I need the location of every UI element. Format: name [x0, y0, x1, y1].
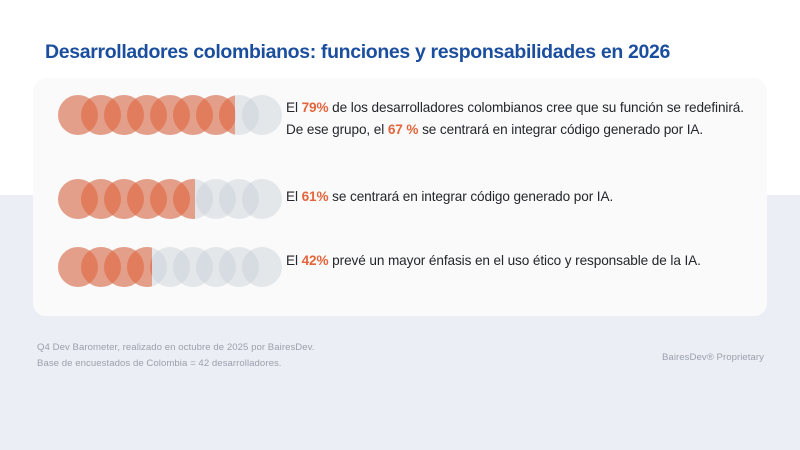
- text-segment: se centrará en integrar código generado …: [329, 189, 614, 204]
- gauge-fill-inner: [58, 92, 235, 138]
- proprietary-notice: BairesDev® Proprietary: [662, 352, 764, 363]
- stat-text: El 79% de los desarrolladores colombiano…: [286, 97, 756, 141]
- source-footnote: Q4 Dev Barometer, realizado en octubre d…: [37, 340, 315, 371]
- source-line-2: Base de encuestados de Colombia = 42 des…: [37, 356, 315, 372]
- slide-root: Desarrolladores colombianos: funciones y…: [0, 0, 800, 450]
- stat-text: El 42% prevé un mayor énfasis en el uso …: [286, 250, 756, 272]
- percent-highlight: 42%: [302, 253, 329, 268]
- text-segment: El: [286, 253, 302, 268]
- source-line-1: Q4 Dev Barometer, realizado en octubre d…: [37, 340, 315, 356]
- gauge-fill: [58, 92, 235, 138]
- text-segment: prevé un mayor énfasis en el uso ético y…: [329, 253, 701, 268]
- percent-highlight: 79%: [302, 100, 329, 115]
- page-title: Desarrolladores colombianos: funciones y…: [45, 41, 775, 64]
- gauge-dot: [242, 247, 282, 287]
- text-segment: se centrará en integrar código generado …: [418, 122, 703, 137]
- stat-rows: El 79% de los desarrolladores colombiano…: [33, 78, 767, 316]
- gauge-fill: [58, 244, 152, 290]
- percent-highlight: 67 %: [388, 122, 419, 137]
- gauge-61: [58, 176, 282, 222]
- gauge-79: [58, 92, 282, 138]
- text-segment: El: [286, 100, 302, 115]
- percent-highlight: 61%: [302, 189, 329, 204]
- gauge-fill: [58, 176, 195, 222]
- gauge-42: [58, 244, 282, 290]
- content-card: El 79% de los desarrolladores colombiano…: [33, 78, 767, 316]
- gauge-fill-inner: [58, 176, 195, 222]
- gauge-dot: [242, 179, 282, 219]
- gauge-fill-inner: [58, 244, 152, 290]
- text-segment: El: [286, 189, 302, 204]
- stat-text: El 61% se centrará en integrar código ge…: [286, 186, 756, 208]
- gauge-dot: [242, 95, 282, 135]
